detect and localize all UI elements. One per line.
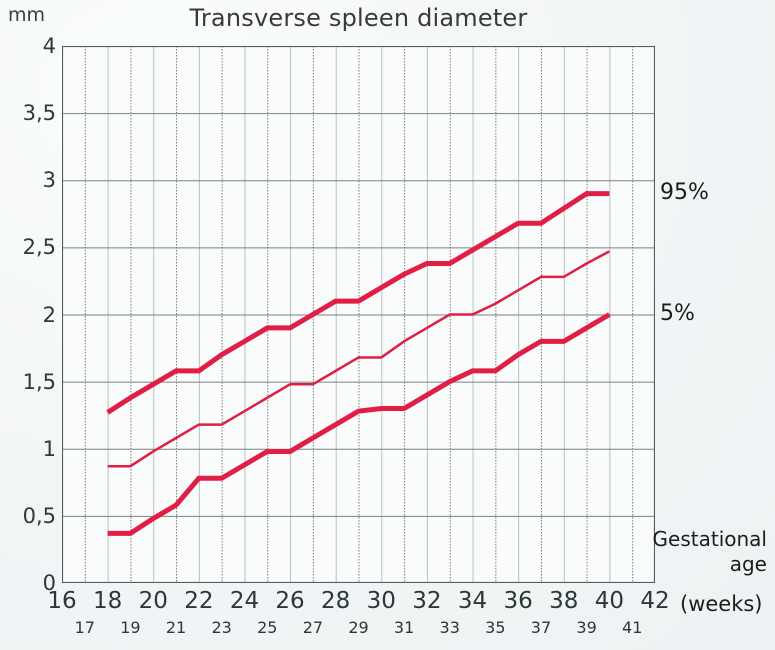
x-tick-label-minor: 23 (211, 618, 231, 637)
series-label-upper: 95% (660, 180, 709, 205)
plot-area (62, 46, 655, 583)
y-tick-label: 0,5 (4, 504, 56, 528)
x-tick-label-major: 42 (640, 588, 669, 614)
x-tick-label-minor: 17 (75, 618, 95, 637)
x-tick-label-minor: 27 (303, 618, 323, 637)
x-tick-label-major: 22 (184, 588, 213, 614)
y-tick-label: 2,5 (4, 235, 56, 259)
y-axis-unit-label: mm (8, 4, 45, 26)
x-tick-label-major: 20 (139, 588, 168, 614)
y-tick-label: 2 (4, 303, 56, 327)
x-tick-label-minor: 37 (531, 618, 551, 637)
figure-page: mm Transverse spleen diameter 00,511,522… (0, 0, 775, 650)
x-tick-label-major: 28 (321, 588, 350, 614)
y-tick-label: 4 (4, 34, 56, 58)
x-tick-label-minor: 41 (622, 618, 642, 637)
series-label-lower: 5% (660, 301, 695, 326)
x-tick-label-major: 36 (504, 588, 533, 614)
y-axis-tick-labels: 00,511,522,533,54 (0, 46, 56, 583)
x-tick-label-major: 40 (595, 588, 624, 614)
x-tick-label-major: 34 (458, 588, 487, 614)
x-axis-unit-label: (weeks) (680, 592, 763, 616)
x-tick-label-minor: 25 (257, 618, 277, 637)
x-tick-label-major: 30 (367, 588, 396, 614)
x-tick-label-minor: 21 (166, 618, 186, 637)
chart-title: Transverse spleen diameter (62, 4, 655, 32)
x-tick-label-major: 18 (93, 588, 122, 614)
x-tick-label-major: 24 (230, 588, 259, 614)
x-tick-label-minor: 31 (394, 618, 414, 637)
chart-svg (62, 46, 655, 583)
x-axis-title-line2: age (627, 552, 767, 577)
x-axis-major-tick-labels: 1618202224262830323436384042 (0, 588, 775, 618)
y-tick-label: 1,5 (4, 370, 56, 394)
x-axis-title: Gestational age (627, 527, 767, 577)
y-tick-label: 1 (4, 437, 56, 461)
x-tick-label-major: 16 (47, 588, 76, 614)
y-tick-label: 3,5 (4, 101, 56, 125)
x-axis-minor-tick-labels: 17192123252729313335373941 (0, 618, 775, 644)
x-tick-label-major: 26 (275, 588, 304, 614)
y-tick-label: 3 (4, 168, 56, 192)
x-tick-label-minor: 19 (120, 618, 140, 637)
x-tick-label-minor: 35 (485, 618, 505, 637)
x-tick-label-minor: 29 (348, 618, 368, 637)
x-tick-label-minor: 33 (440, 618, 460, 637)
x-tick-label-major: 32 (412, 588, 441, 614)
x-axis-title-line1: Gestational (627, 527, 767, 552)
x-tick-label-minor: 39 (576, 618, 596, 637)
x-tick-label-major: 38 (549, 588, 578, 614)
